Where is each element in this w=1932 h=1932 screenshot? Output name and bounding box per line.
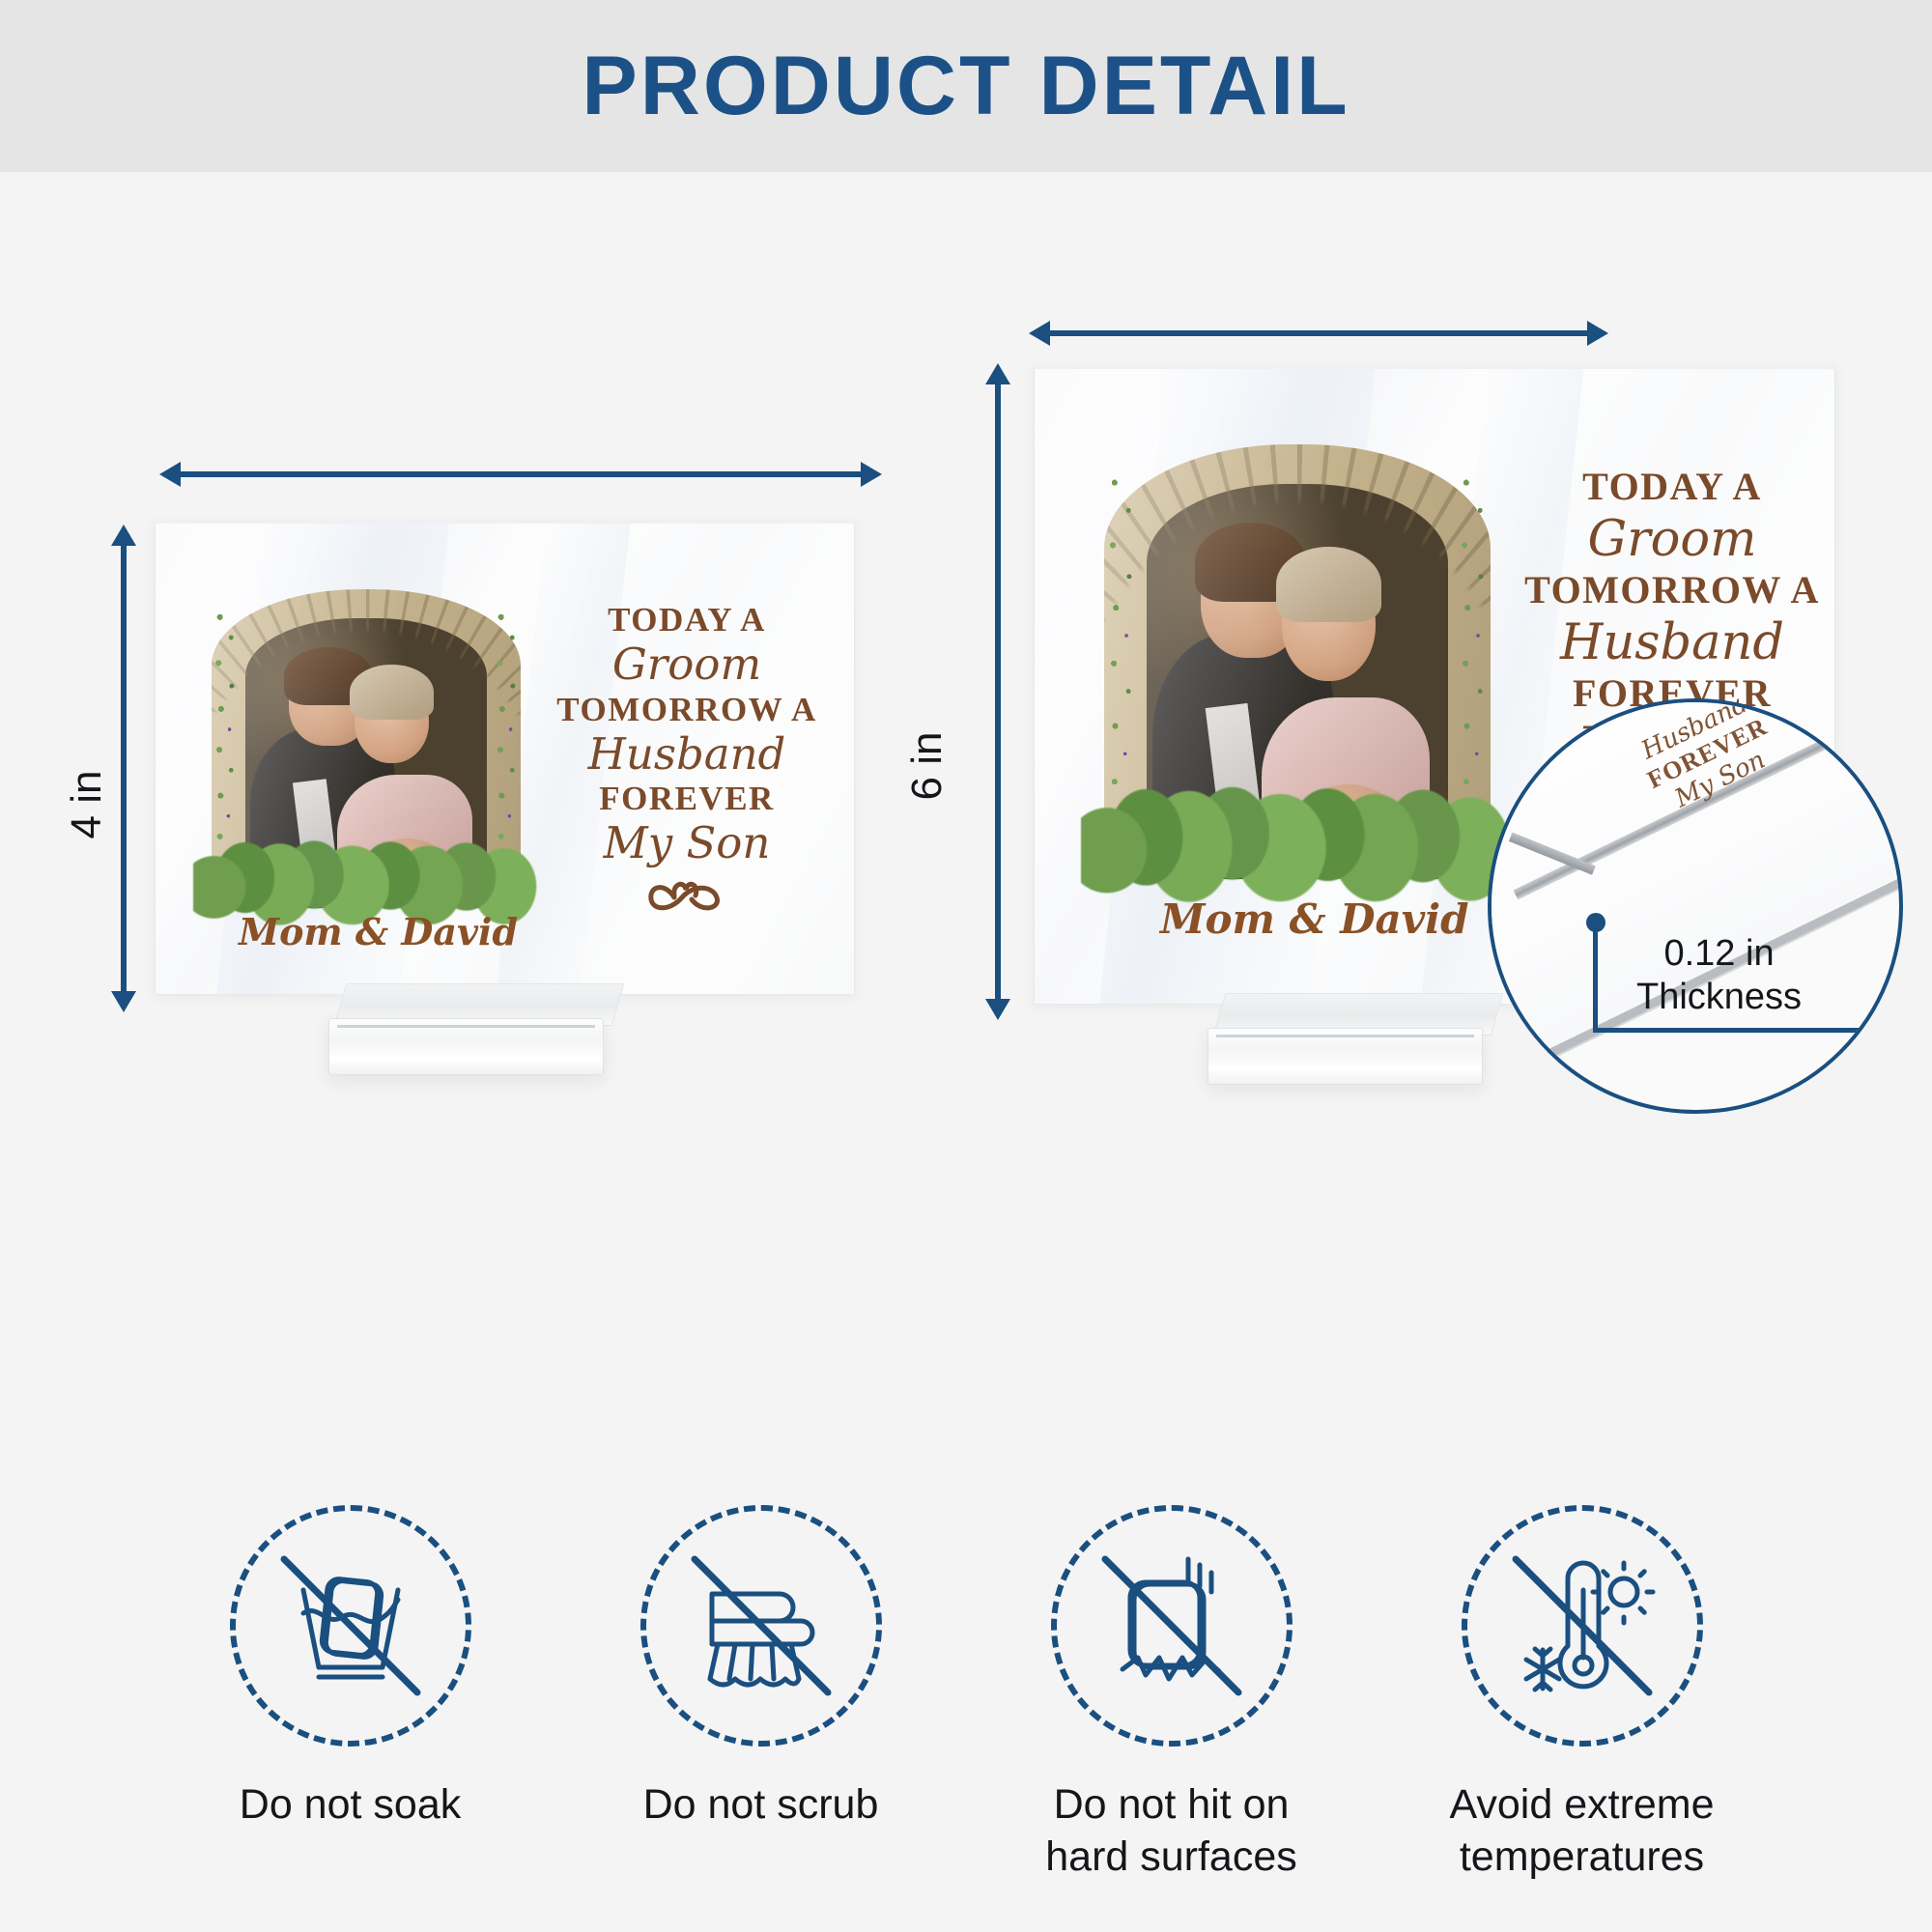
large-height-label: 6 in xyxy=(903,689,952,843)
quote-line-1: TODAY A xyxy=(542,601,832,639)
care-item-no-soak: Do not soak xyxy=(145,1505,555,1884)
greenery-icon xyxy=(1081,775,1514,905)
small-height-arrow xyxy=(121,544,127,993)
large-stand xyxy=(1207,993,1497,1085)
large-width-arrow xyxy=(1048,330,1589,336)
thickness-leader-horizontal xyxy=(1593,1028,1873,1033)
small-height-label: 4 in xyxy=(63,727,111,882)
thickness-text-group: 0.12 in Thickness xyxy=(1636,932,1802,1019)
care-label-no-extreme-temp: Avoid extremetemperatures xyxy=(1449,1779,1714,1884)
vine-left-icon xyxy=(212,602,240,857)
quote-line-1: TODAY A xyxy=(1518,466,1827,509)
vine-right-icon xyxy=(493,602,521,857)
care-item-no-scrub: Do not scrub xyxy=(555,1505,966,1884)
care-item-no-hard-surface: Do not hit onhard surfaces xyxy=(966,1505,1377,1884)
small-quote-block: TODAY A Groom TOMORROW A Husband FOREVER… xyxy=(542,601,832,919)
thickness-zoom-callout: Husband FOREVER My Son 0.12 in Thickness xyxy=(1488,698,1903,1114)
infinity-heart-icon xyxy=(645,874,728,919)
care-label-no-scrub: Do not scrub xyxy=(643,1779,879,1832)
quote-line-2: Groom xyxy=(542,640,832,689)
no-scrub-icon xyxy=(640,1505,882,1747)
quote-line-4: Husband xyxy=(542,730,832,779)
quote-line-3: TOMORROW A xyxy=(1518,569,1827,612)
large-photo xyxy=(1104,444,1491,879)
small-photo xyxy=(212,589,521,908)
page-title: PRODUCT DETAIL xyxy=(582,44,1350,128)
small-width-arrow xyxy=(179,471,863,477)
large-height-arrow xyxy=(995,383,1001,1001)
quote-line-4: Husband xyxy=(1518,615,1827,670)
care-item-no-extreme-temp: Avoid extremetemperatures xyxy=(1377,1505,1787,1884)
large-personal-name: Mom & David xyxy=(1160,895,1468,943)
vine-right-icon xyxy=(1456,462,1491,810)
thickness-leader-vertical xyxy=(1593,926,1598,1033)
quote-line-6: My Son xyxy=(542,819,832,867)
no-extreme-temp-icon xyxy=(1462,1505,1703,1747)
product-detail-canvas: 6 in 4 in xyxy=(0,172,1932,1932)
care-instructions-row: Do not soak Do not scrub xyxy=(0,1505,1932,1884)
no-hard-surface-icon xyxy=(1051,1505,1293,1747)
header-band: PRODUCT DETAIL xyxy=(0,0,1932,172)
no-soak-icon xyxy=(230,1505,471,1747)
care-label-no-hard-surface: Do not hit onhard surfaces xyxy=(1045,1779,1297,1884)
thickness-value: 0.12 in xyxy=(1636,932,1802,976)
quote-line-2: Groom xyxy=(1518,512,1827,567)
vine-left-icon xyxy=(1104,462,1139,810)
thickness-caption: Thickness xyxy=(1636,976,1802,1019)
quote-line-3: TOMORROW A xyxy=(542,691,832,728)
zoom-plaque-surface xyxy=(1488,698,1903,1077)
quote-line-5: FOREVER xyxy=(542,780,832,817)
care-label-no-soak: Do not soak xyxy=(240,1779,461,1832)
small-stand xyxy=(328,983,618,1075)
small-plaque: TODAY A Groom TOMORROW A Husband FOREVER… xyxy=(155,522,855,995)
small-personal-name: Mom & David xyxy=(239,910,518,953)
